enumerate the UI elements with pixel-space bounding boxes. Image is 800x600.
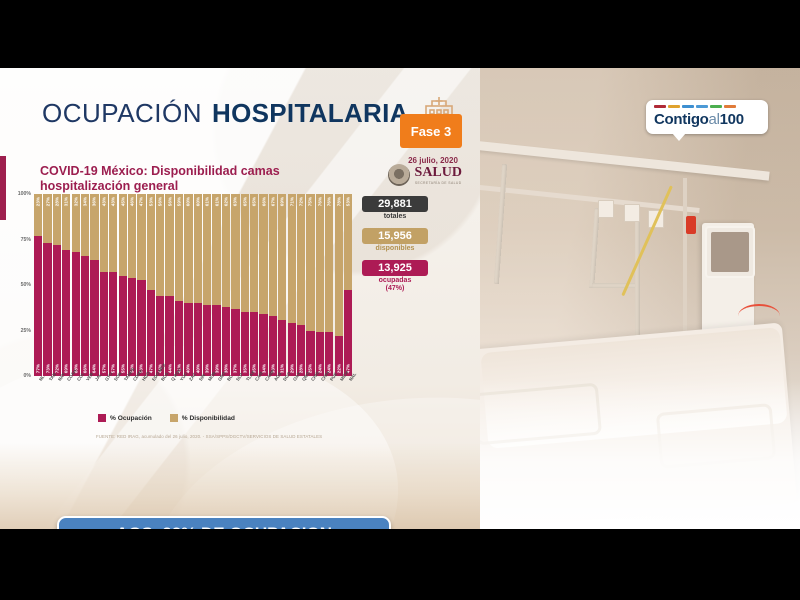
bar-segment-disponibilidad: 76% bbox=[325, 194, 333, 332]
bar-qro: 72%28% bbox=[297, 194, 305, 376]
xaxis-label-edo-mex: EDO MEX bbox=[147, 376, 155, 410]
bar-value-disponibilidad: 76% bbox=[317, 197, 322, 206]
xaxis-label-oax: OAX bbox=[288, 376, 296, 410]
left-accent-bar bbox=[0, 156, 6, 220]
bar-segment-ocupacion: 64% bbox=[90, 260, 98, 376]
xaxis-label-hgo: HGO bbox=[137, 376, 145, 410]
bar-segment-ocupacion: 53% bbox=[137, 280, 145, 376]
bar-pue: 76%24% bbox=[325, 194, 333, 376]
bar-tab: 27%73% bbox=[43, 194, 51, 376]
xaxis-label-nay: NAY bbox=[53, 376, 61, 410]
bar-sin: 60%40% bbox=[194, 194, 202, 376]
bar-value-disponibilidad: 53% bbox=[148, 197, 153, 206]
bar-value-disponibilidad: 61% bbox=[205, 197, 210, 206]
bar-segment-disponibilidad: 62% bbox=[222, 194, 230, 307]
logo-dash-5 bbox=[724, 105, 736, 108]
bar-segment-disponibilidad: 56% bbox=[156, 194, 164, 296]
bar-value-disponibilidad: 78% bbox=[336, 197, 341, 206]
chart-title: COVID-19 México: Disponibilidad camas ho… bbox=[40, 164, 370, 194]
xaxis-label-chih: CHIH bbox=[316, 376, 324, 410]
xaxis-label-dgo: DGO bbox=[278, 376, 286, 410]
bar-value-disponibilidad: 66% bbox=[261, 197, 266, 206]
bar-segment-ocupacion: 47% bbox=[147, 290, 155, 376]
bar-son: 43%57% bbox=[109, 194, 117, 376]
bar-segment-ocupacion: 35% bbox=[241, 312, 249, 376]
slide-date: 26 julio, 2020 bbox=[398, 156, 468, 165]
bar-segment-ocupacion: 57% bbox=[100, 272, 108, 376]
bar-segment-ocupacion: 41% bbox=[175, 301, 183, 376]
bar-value-ocupacion: 57% bbox=[101, 364, 106, 373]
phase-badge: Fase 3 bbox=[400, 114, 462, 148]
xaxis-label-ver: VER bbox=[81, 376, 89, 410]
bar-value-disponibilidad: 31% bbox=[64, 197, 69, 206]
bar-segment-ocupacion: 77% bbox=[34, 236, 42, 376]
bar-segment-disponibilidad: 69% bbox=[278, 194, 286, 320]
bar-dgo: 69%31% bbox=[278, 194, 286, 376]
chart-legend: % Ocupación % Disponibilidad bbox=[98, 414, 235, 422]
xaxis-label-qro: QRO bbox=[297, 376, 305, 410]
bar-value-ocupacion: 40% bbox=[195, 364, 200, 373]
stat-total-caption: totales bbox=[362, 213, 428, 221]
bar-segment-ocupacion: 73% bbox=[43, 243, 51, 376]
bar-segment-ocupacion: 38% bbox=[222, 307, 230, 376]
bar-ver: 34%66% bbox=[81, 194, 89, 376]
bar-value-disponibilidad: 56% bbox=[158, 197, 163, 206]
bar-segment-disponibilidad: 43% bbox=[109, 194, 117, 272]
xaxis-label-chis: CHIS bbox=[306, 376, 314, 410]
bar-value-disponibilidad: 46% bbox=[130, 197, 135, 206]
bar-value-disponibilidad: 76% bbox=[327, 197, 332, 206]
stat-total-value: 29,881 bbox=[362, 196, 428, 212]
oxygen-outlet-1 bbox=[598, 200, 614, 218]
bar-gro: 61%39% bbox=[212, 194, 220, 376]
bar-segment-ocupacion: 29% bbox=[288, 323, 296, 376]
bar-bcs: 56%44% bbox=[156, 194, 164, 376]
legend-swatch-ocupacion bbox=[98, 414, 106, 422]
bar-segment-disponibilidad: 34% bbox=[81, 194, 89, 256]
bar-col: 32%68% bbox=[72, 194, 80, 376]
bar-oax: 71%29% bbox=[288, 194, 296, 376]
bar-camp: 66%34% bbox=[259, 194, 267, 376]
bar-jal: 36%64% bbox=[90, 194, 98, 376]
bar-value-ocupacion: 73% bbox=[45, 364, 50, 373]
bar-value-disponibilidad: 43% bbox=[101, 197, 106, 206]
bar-value-disponibilidad: 43% bbox=[111, 197, 116, 206]
bar-hgo: 47%53% bbox=[137, 194, 145, 376]
salud-logo: SALUD SECRETARÍA DE SALUD bbox=[388, 164, 462, 186]
logo-text: Contigoal100 bbox=[654, 111, 744, 128]
wall-pipe-3 bbox=[592, 283, 640, 288]
ytick-0: 0% bbox=[24, 373, 32, 379]
bar-value-disponibilidad: 63% bbox=[233, 197, 238, 206]
contigo-al-100-logo: Contigoal100 bbox=[646, 100, 768, 134]
stat-available-value: 15,956 bbox=[362, 228, 428, 244]
bar-segment-disponibilidad: 76% bbox=[316, 194, 324, 332]
bar-value-ocupacion: 37% bbox=[233, 364, 238, 373]
bar-bc: 62%38% bbox=[222, 194, 230, 376]
chart-card: COVID-19 México: Disponibilidad camas ho… bbox=[18, 156, 470, 486]
bar-value-disponibilidad: 71% bbox=[289, 197, 294, 206]
bar-value-disponibilidad: 65% bbox=[242, 197, 247, 206]
bar-value-ocupacion: 35% bbox=[242, 364, 247, 373]
xaxis-label-bcs: BCS bbox=[156, 376, 164, 410]
xaxis-label-col: COL bbox=[72, 376, 80, 410]
bar-segment-disponibilidad: 28% bbox=[53, 194, 61, 245]
xaxis-label-sin: SIN bbox=[194, 376, 202, 410]
xaxis-label-nl: NL bbox=[34, 376, 42, 410]
bar-value-disponibilidad: 75% bbox=[308, 197, 313, 206]
screen: OCUPACIÓN HOSPITALARIA bbox=[0, 0, 800, 600]
logo-dash-0 bbox=[654, 105, 666, 108]
ytick-75: 75% bbox=[21, 237, 31, 243]
bar-tamps: 45%55% bbox=[119, 194, 127, 376]
bar-chih: 76%24% bbox=[316, 194, 324, 376]
logo-dash-4 bbox=[710, 105, 722, 108]
bar-segment-ocupacion: 35% bbox=[250, 312, 258, 376]
bar-value-disponibilidad: 45% bbox=[120, 197, 125, 206]
bar-cdmx: 46%54% bbox=[128, 194, 136, 376]
bar-segment-disponibilidad: 27% bbox=[43, 194, 51, 243]
bar-segment-ocupacion: 57% bbox=[109, 272, 117, 376]
bar-value-disponibilidad: 27% bbox=[45, 197, 50, 206]
bar-value-ocupacion: 40% bbox=[186, 364, 191, 373]
iv-pole bbox=[683, 178, 687, 338]
red-clip bbox=[686, 216, 696, 234]
xaxis-label-pue: PUE bbox=[325, 376, 333, 410]
bar-value-disponibilidad: 61% bbox=[214, 197, 219, 206]
ytick-25: 25% bbox=[21, 328, 31, 334]
bar-value-disponibilidad: 60% bbox=[186, 197, 191, 206]
bar-segment-ocupacion: 33% bbox=[269, 316, 277, 376]
bar-segment-disponibilidad: 71% bbox=[288, 194, 296, 323]
photo-bottom-fade bbox=[480, 379, 800, 529]
stats-panel: 29,881 totales 15,956 disponibles 13,925… bbox=[362, 196, 428, 300]
bar-segment-ocupacion: 25% bbox=[306, 331, 314, 377]
xaxis-labels: NLTABNAYCOAHCOLVERJALGTOSONTAMPSCDMXHGOE… bbox=[34, 376, 352, 410]
logo-color-dashes bbox=[654, 105, 736, 108]
xaxis-label-zac: ZAC bbox=[184, 376, 192, 410]
bar-segment-disponibilidad: 60% bbox=[184, 194, 192, 303]
bar-mich: 78%22% bbox=[335, 194, 343, 376]
bar-segment-ocupacion: 66% bbox=[81, 256, 89, 376]
xaxis-label-bc: BC bbox=[222, 376, 230, 410]
letterbox-bottom bbox=[0, 529, 800, 600]
bar-segment-disponibilidad: 78% bbox=[335, 194, 343, 336]
bar-segment-disponibilidad: 65% bbox=[250, 194, 258, 312]
bar-value-disponibilidad: 69% bbox=[280, 197, 285, 206]
bar-segment-ocupacion: 39% bbox=[203, 305, 211, 376]
xaxis-label-camp: CAMP bbox=[259, 376, 267, 410]
bar-segment-ocupacion: 47% bbox=[344, 290, 352, 376]
bar-segment-disponibilidad: 53% bbox=[147, 194, 155, 290]
bar-segment-disponibilidad: 61% bbox=[203, 194, 211, 305]
bars-container: 23%77%27%73%28%72%31%69%32%68%34%66%36%6… bbox=[34, 194, 352, 376]
bar-segment-ocupacion: 39% bbox=[212, 305, 220, 376]
bar-nay: 28%72% bbox=[53, 194, 61, 376]
bar-segment-disponibilidad: 47% bbox=[137, 194, 145, 280]
salud-name: SALUD bbox=[415, 166, 462, 179]
bar-segment-ocupacion: 44% bbox=[165, 296, 173, 376]
salud-seal-icon bbox=[388, 164, 410, 186]
bar-value-disponibilidad: 28% bbox=[54, 197, 59, 206]
bar-segment-disponibilidad: 63% bbox=[231, 194, 239, 309]
monitor-screen bbox=[711, 232, 749, 272]
bar-value-disponibilidad: 60% bbox=[195, 197, 200, 206]
stat-occupied-caption-pct: (47%) bbox=[362, 285, 428, 293]
video-frame: OCUPACIÓN HOSPITALARIA bbox=[0, 68, 800, 529]
bar-value-disponibilidad: 72% bbox=[299, 197, 304, 206]
bar-ags: 67%33% bbox=[269, 194, 277, 376]
bar-segment-ocupacion: 40% bbox=[194, 303, 202, 376]
bar-coah: 31%69% bbox=[62, 194, 70, 376]
xaxis-label-mor: MOR bbox=[203, 376, 211, 410]
xaxis-label-slp: SLP bbox=[231, 376, 239, 410]
bar-value-disponibilidad: 67% bbox=[270, 197, 275, 206]
ytick-50: 50% bbox=[21, 282, 31, 288]
xaxis-label-nal: NAL bbox=[344, 376, 352, 410]
xaxis-label-gro: GRO bbox=[212, 376, 220, 410]
legend-swatch-disponibilidad bbox=[170, 414, 178, 422]
xaxis-label-ags: AGS bbox=[269, 376, 277, 410]
bar-nal: 53%47% bbox=[344, 194, 352, 376]
bar-value-disponibilidad: 47% bbox=[139, 197, 144, 206]
oxygen-outlet-2 bbox=[624, 204, 640, 222]
bar-cam: 65%35% bbox=[250, 194, 258, 376]
xaxis-label-son: SON bbox=[109, 376, 117, 410]
bar-value-ocupacion: 22% bbox=[336, 364, 341, 373]
bar-segment-ocupacion: 31% bbox=[278, 320, 286, 376]
bar-value-ocupacion: 66% bbox=[83, 364, 88, 373]
bar-chis: 75%25% bbox=[306, 194, 314, 376]
bar-value-ocupacion: 44% bbox=[167, 364, 172, 373]
xaxis-label-jal: JAL bbox=[90, 376, 98, 410]
bar-zac: 60%40% bbox=[184, 194, 192, 376]
logo-dash-2 bbox=[682, 105, 694, 108]
bar-segment-disponibilidad: 72% bbox=[297, 194, 305, 325]
xaxis-label-q-roo: Q ROO bbox=[165, 376, 173, 410]
bar-tlax: 65%35% bbox=[241, 194, 249, 376]
bar-segment-ocupacion: 55% bbox=[119, 276, 127, 376]
lower-third-banner: AGS. 22% DE OCUPACION DISPONIBLE 78% bbox=[57, 516, 391, 529]
logo-part-100: 100 bbox=[720, 111, 744, 128]
xaxis-label-gto: GTO bbox=[100, 376, 108, 410]
bar-value-disponibilidad: 36% bbox=[92, 197, 97, 206]
bar-segment-ocupacion: 24% bbox=[316, 332, 324, 376]
stat-occupied-caption-text: ocupadas bbox=[362, 277, 428, 285]
chart-source-note: FUENTE: RED IRAG, acumulado del 26 julio… bbox=[96, 434, 322, 439]
xaxis-label-mich: MICH bbox=[335, 376, 343, 410]
bar-segment-disponibilidad: 46% bbox=[128, 194, 136, 278]
bar-value-disponibilidad: 65% bbox=[252, 197, 257, 206]
header-title-bold: HOSPITALARIA bbox=[212, 98, 409, 129]
bar-q-roo: 56%44% bbox=[165, 194, 173, 376]
salud-subtitle: SECRETARÍA DE SALUD bbox=[415, 181, 462, 185]
xaxis-label-yuc: YUC bbox=[175, 376, 183, 410]
bar-value-disponibilidad: 62% bbox=[223, 197, 228, 206]
bar-segment-disponibilidad: 36% bbox=[90, 194, 98, 260]
xaxis-label-coah: COAH bbox=[62, 376, 70, 410]
bar-segment-disponibilidad: 45% bbox=[119, 194, 127, 276]
bar-value-ocupacion: 77% bbox=[36, 364, 41, 373]
xaxis-label-tlax: TLAX bbox=[241, 376, 249, 410]
bar-segment-disponibilidad: 59% bbox=[175, 194, 183, 301]
legend-label-disponibilidad: % Disponibilidad bbox=[182, 415, 235, 422]
bar-segment-ocupacion: 40% bbox=[184, 303, 192, 376]
bar-value-disponibilidad: 53% bbox=[346, 197, 351, 206]
bar-segment-disponibilidad: 67% bbox=[269, 194, 277, 316]
presentation-slide: OCUPACIÓN HOSPITALARIA bbox=[0, 68, 480, 529]
bar-gto: 43%57% bbox=[100, 194, 108, 376]
bar-slp: 63%37% bbox=[231, 194, 239, 376]
xaxis-label-tab: TAB bbox=[43, 376, 51, 410]
bar-segment-disponibilidad: 31% bbox=[62, 194, 70, 250]
bar-segment-ocupacion: 37% bbox=[231, 309, 239, 376]
ytick-100: 100% bbox=[18, 191, 31, 197]
legend-item-disponibilidad: % Disponibilidad bbox=[170, 414, 235, 422]
bar-value-disponibilidad: 59% bbox=[177, 197, 182, 206]
bar-edo-mex: 53%47% bbox=[147, 194, 155, 376]
stat-occupied-value: 13,925 bbox=[362, 260, 428, 276]
xaxis-label-tamps: TAMPS bbox=[119, 376, 127, 410]
monitor-bezel bbox=[705, 226, 755, 278]
stat-occupied-caption: ocupadas (47%) bbox=[362, 277, 428, 293]
logo-part-al: al bbox=[709, 111, 720, 128]
bar-value-ocupacion: 55% bbox=[120, 364, 125, 373]
bar-nl: 23%77% bbox=[34, 194, 42, 376]
bar-segment-disponibilidad: 23% bbox=[34, 194, 42, 236]
legend-label-ocupacion: % Ocupación bbox=[110, 415, 152, 422]
bar-value-ocupacion: 64% bbox=[92, 364, 97, 373]
bar-segment-disponibilidad: 65% bbox=[241, 194, 249, 312]
bar-segment-ocupacion: 72% bbox=[53, 245, 61, 376]
xaxis-label-cdmx: CDMX bbox=[128, 376, 136, 410]
logo-dash-1 bbox=[668, 105, 680, 108]
bar-value-ocupacion: 69% bbox=[64, 364, 69, 373]
bar-segment-ocupacion: 68% bbox=[72, 252, 80, 376]
bar-segment-disponibilidad: 56% bbox=[165, 194, 173, 296]
bar-value-ocupacion: 57% bbox=[111, 364, 116, 373]
wall-pipe-4 bbox=[635, 218, 640, 338]
bar-segment-disponibilidad: 61% bbox=[212, 194, 220, 305]
bar-segment-disponibilidad: 75% bbox=[306, 194, 314, 331]
bar-value-disponibilidad: 34% bbox=[83, 197, 88, 206]
logo-part-contigo: Contigo bbox=[654, 111, 709, 128]
bar-value-disponibilidad: 23% bbox=[36, 197, 41, 206]
bar-segment-disponibilidad: 32% bbox=[72, 194, 80, 252]
bar-segment-ocupacion: 22% bbox=[335, 336, 343, 376]
legend-item-ocupacion: % Ocupación bbox=[98, 414, 152, 422]
bar-segment-ocupacion: 69% bbox=[62, 250, 70, 376]
bar-segment-disponibilidad: 53% bbox=[344, 194, 352, 290]
bar-segment-disponibilidad: 66% bbox=[259, 194, 267, 314]
bar-segment-disponibilidad: 43% bbox=[100, 194, 108, 272]
stat-available-caption: disponibles bbox=[362, 245, 428, 253]
xaxis-label-cam: CAM bbox=[250, 376, 258, 410]
bar-mor: 61%39% bbox=[203, 194, 211, 376]
stacked-bar-chart: 100% 75% 50% 25% 0% 23%77%27%73%28%72%31… bbox=[34, 194, 352, 376]
bar-segment-disponibilidad: 60% bbox=[194, 194, 202, 303]
bar-value-ocupacion: 72% bbox=[54, 364, 59, 373]
logo-dash-3 bbox=[696, 105, 708, 108]
bar-value-disponibilidad: 32% bbox=[73, 197, 78, 206]
bar-value-disponibilidad: 56% bbox=[167, 197, 172, 206]
bar-segment-ocupacion: 28% bbox=[297, 325, 305, 376]
bar-value-ocupacion: 39% bbox=[205, 364, 210, 373]
slide-header: OCUPACIÓN HOSPITALARIA bbox=[42, 93, 459, 133]
hospital-room-photo: Contigoal100 bbox=[480, 68, 800, 529]
bar-yuc: 59%41% bbox=[175, 194, 183, 376]
letterbox-top bbox=[0, 0, 800, 68]
bar-segment-ocupacion: 54% bbox=[128, 278, 136, 376]
header-title-light: OCUPACIÓN bbox=[42, 98, 202, 129]
bar-segment-ocupacion: 34% bbox=[259, 314, 267, 376]
